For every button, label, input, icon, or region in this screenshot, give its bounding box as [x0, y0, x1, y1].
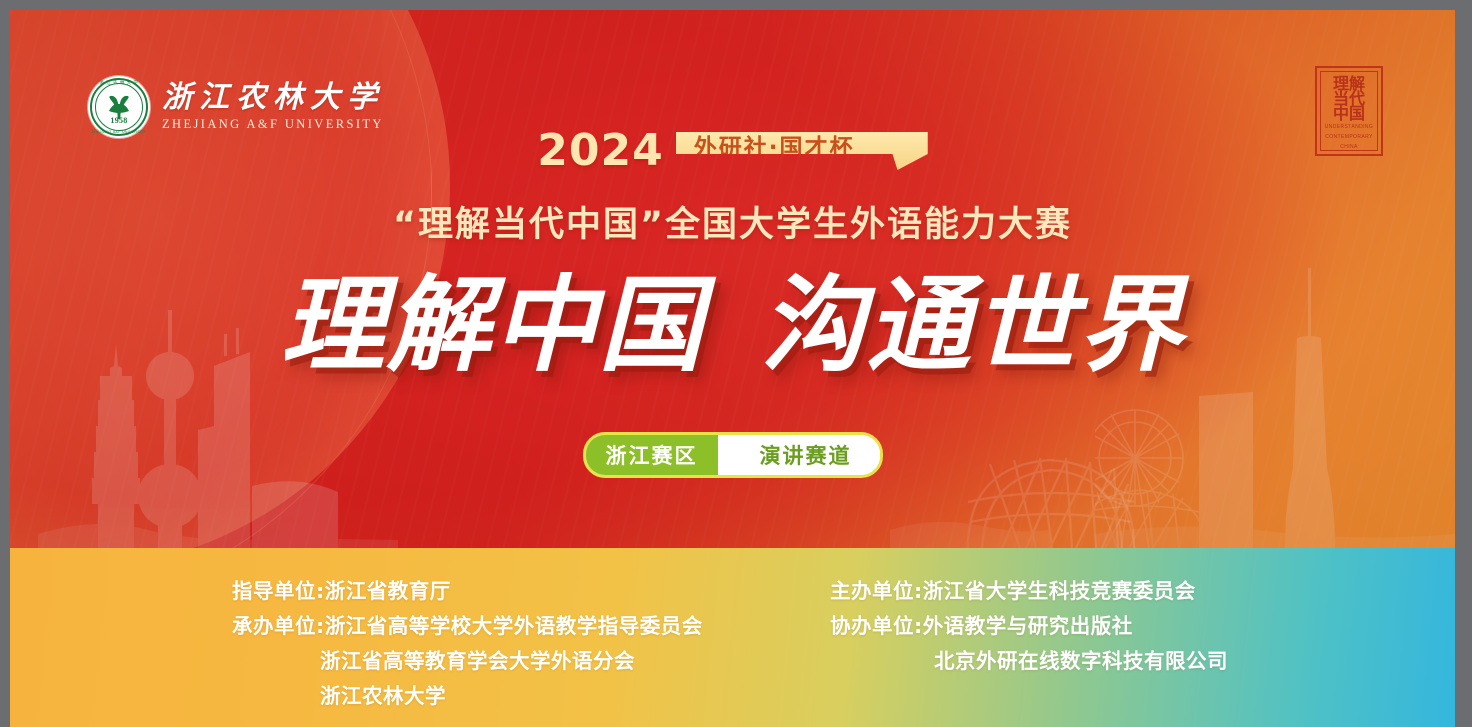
university-name-cn: 浙江农林大学 — [162, 83, 384, 113]
stamp-cn-line3: 中国 — [1325, 106, 1373, 121]
slogan-part-2: 沟通世界 — [761, 264, 1185, 386]
year-banner-row: 2024 外研社·国才杯 — [10, 129, 1455, 173]
sponsor-banner-ribbon: 外研社·国才杯 — [676, 132, 928, 170]
organizers-right-column: 主办单位:浙江省大学生科技竞赛委员会 协办单位:外语教学与研究出版社 北京外研在… — [830, 574, 1228, 679]
footer-right-line-1: 主办单位:浙江省大学生科技竞赛委员会 — [830, 574, 1228, 609]
footer-left-line-4: 浙江农林大学 — [232, 679, 703, 714]
competition-subtitle: “理解当代中国”全国大学生外语能力大赛 — [10, 196, 1455, 247]
footer-left-line-3: 浙江省高等教育学会大学外语分会 — [232, 644, 703, 679]
organizers-left-column: 指导单位:浙江省教育厅 承办单位:浙江省高等学校大学外语教学指导委员会 浙江省高… — [232, 574, 703, 714]
seal-arc-top-text: 浙 江 农 林 大 学 — [88, 80, 150, 86]
pill-track-label: 演讲赛道 — [718, 435, 880, 475]
footer-right-line-2: 协办单位:外语教学与研究出版社 — [830, 609, 1228, 644]
main-slogan: 理解中国沟通世界 — [10, 265, 1455, 385]
organizers-footer: 指导单位:浙江省教育厅 承办单位:浙江省高等学校大学外语教学指导委员会 浙江省高… — [10, 548, 1455, 727]
competition-year: 2024 — [537, 129, 663, 173]
pill-region-label: 浙江赛区 — [586, 435, 718, 475]
hero-banner: 浙 江 农 林 大 学 1958 ZHEJIANG A&F UNIVERSITY — [10, 10, 1455, 548]
region-track-pill: 浙江赛区 演讲赛道 — [583, 432, 883, 478]
footer-right-line-3: 北京外研在线数字科技有限公司 — [830, 644, 1228, 679]
seal-year: 1958 — [88, 116, 150, 125]
footer-left-line-1: 指导单位:浙江省教育厅 — [232, 574, 703, 609]
poster-frame: 浙 江 农 林 大 学 1958 ZHEJIANG A&F UNIVERSITY — [10, 10, 1455, 727]
footer-left-line-2: 承办单位:浙江省高等学校大学外语教学指导委员会 — [232, 609, 703, 644]
slogan-part-1: 理解中国 — [280, 264, 704, 386]
sponsor-banner-label: 外研社·国才杯 — [694, 128, 855, 162]
